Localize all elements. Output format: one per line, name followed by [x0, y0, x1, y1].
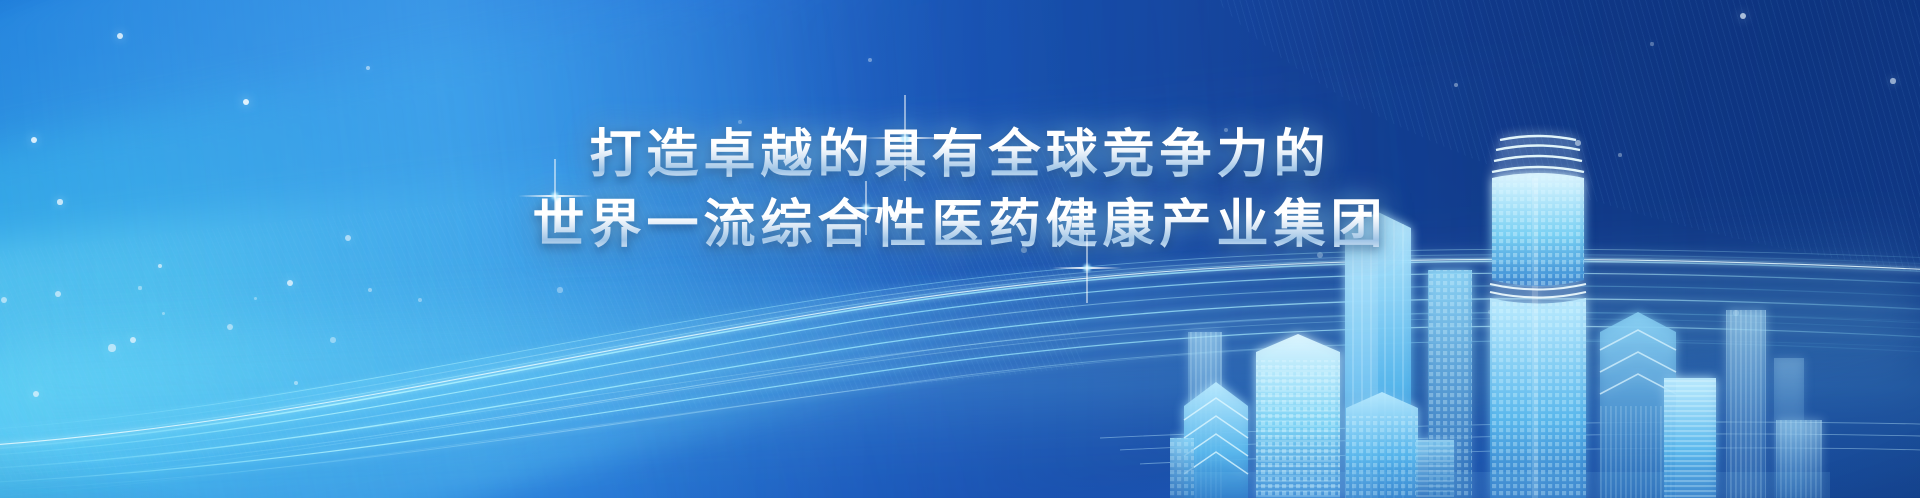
light-particle [557, 287, 562, 292]
light-particle [868, 58, 873, 63]
ribbed-tower [1428, 270, 1472, 498]
light-particle [345, 235, 351, 241]
light-particle [1, 297, 7, 303]
light-particle [418, 298, 423, 303]
light-particle [130, 337, 137, 344]
light-sweep-left [0, 0, 1556, 498]
faceted-tower [1345, 212, 1411, 498]
sparkle-glint [1052, 233, 1122, 303]
glint-core [900, 133, 910, 143]
light-particle [158, 264, 163, 269]
light-particle [33, 391, 39, 397]
glint-core [550, 191, 560, 201]
light-particle [1575, 140, 1581, 146]
glint-core [861, 203, 871, 213]
glint-core [1082, 263, 1092, 273]
headline-line-2: 世界一流综合性医药健康产业集团 [0, 194, 1920, 258]
light-particle [1454, 83, 1458, 87]
light-particle [227, 324, 233, 330]
light-particle [1528, 173, 1531, 176]
background-towers [1188, 310, 1804, 498]
light-particle [117, 33, 123, 39]
light-particle [366, 66, 370, 70]
light-particle [1224, 128, 1228, 132]
light-particle [162, 312, 165, 315]
background-light-sweeps [0, 0, 1920, 498]
light-sweep-lower-left [0, 256, 1161, 498]
light-particle [368, 288, 372, 292]
light-particle [294, 381, 298, 385]
vignette-overlay [0, 0, 1920, 498]
light-particle [1021, 247, 1027, 253]
light-particle [1650, 42, 1653, 45]
slim-line-tower [1664, 378, 1716, 498]
floating-light-particles [0, 0, 1920, 498]
navy-shadow-sweep [529, 0, 1920, 498]
stepped-chevron-block [1184, 382, 1248, 498]
hero-headline: 打造卓越的具有全球竞争力的 世界一流综合性医药健康产业集团 [0, 124, 1920, 258]
headline-line-1: 打造卓越的具有全球竞争力的 [0, 124, 1920, 188]
radial-arc-texture-left [0, 140, 1084, 488]
hero-banner: 打造卓越的具有全球竞争力的 世界一流综合性医药健康产业集团 [0, 0, 1920, 498]
light-particle [55, 291, 61, 297]
notched-block [1346, 392, 1418, 498]
sparkle-glint [518, 159, 592, 233]
light-particle [1740, 13, 1746, 19]
light-particle [1488, 310, 1493, 315]
flowing-light-waves [0, 189, 1920, 498]
sparkle-glint [862, 95, 948, 181]
light-particle [57, 199, 62, 204]
foreground-blocks [1170, 420, 1822, 498]
light-sweep-center [0, 7, 1920, 480]
sparkle-glint [839, 181, 893, 235]
city-skyline-illustration [1170, 120, 1830, 498]
radial-arc-texture-right [1138, 0, 1920, 284]
light-particle [243, 99, 249, 105]
grid-tower-primary [1256, 334, 1340, 498]
light-particle [330, 337, 336, 343]
light-particle [1317, 252, 1323, 258]
light-particle [138, 286, 141, 289]
sparkle-glints [0, 0, 1920, 498]
light-particle [287, 280, 293, 286]
light-sweep-upper [0, 0, 1434, 498]
light-particle [1618, 153, 1622, 157]
mid-haze-band [0, 222, 1920, 465]
light-particle [1890, 78, 1895, 83]
cylindrical-skyscraper [1490, 136, 1586, 498]
light-particle [108, 344, 115, 351]
light-particle [254, 297, 257, 300]
light-particle [738, 120, 742, 124]
stepped-chevron-block-right [1600, 312, 1676, 498]
light-particle [1733, 310, 1738, 315]
light-particle [31, 137, 38, 144]
